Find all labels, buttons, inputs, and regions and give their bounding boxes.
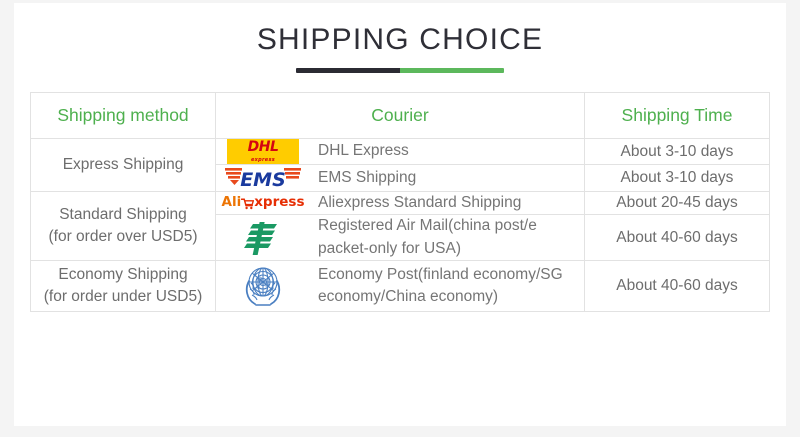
svg-text:EMS: EMS xyxy=(240,169,286,191)
method-cell-standard: Standard Shipping(for order over USD5) xyxy=(31,192,216,261)
ems-logo: EMS xyxy=(224,165,302,191)
method-cell-economy: Economy Shipping(for order under USD5) xyxy=(31,261,216,312)
courier-cell-china-post: Registered Air Mail(china post/e packet-… xyxy=(216,215,585,261)
dhl-logo: DHL express xyxy=(224,139,302,164)
time-cell: About 3-10 days xyxy=(585,139,770,165)
method-cell-express: Express Shipping xyxy=(31,139,216,192)
time-cell: About 20-45 days xyxy=(585,192,770,215)
table-row: Express Shipping DHL express DHL Express xyxy=(31,139,770,165)
shipping-table: Shipping method Courier Shipping Time Ex… xyxy=(30,92,770,312)
title-underline xyxy=(296,68,504,73)
table-row: Economy Shipping(for order under USD5) xyxy=(31,261,770,312)
column-header-shipping-time: Shipping Time xyxy=(585,93,770,139)
courier-cell-aliexpress: Ali xpress Ali xyxy=(216,192,585,215)
table-header: Shipping method Courier Shipping Time xyxy=(31,93,770,139)
shipping-choice-card: SHIPPING CHOICE Shipping method Courier … xyxy=(14,3,786,426)
title-underline-dark-half xyxy=(296,68,400,73)
aliexpress-logo: Ali xpress xyxy=(224,196,302,210)
column-header-courier: Courier xyxy=(216,93,585,139)
courier-cell-economy-post: Economy Post(finland economy/SG economy/… xyxy=(216,261,585,312)
time-cell: About 40-60 days xyxy=(585,261,770,312)
courier-cell-dhl: DHL express DHL Express xyxy=(216,139,585,165)
table-row: Standard Shipping(for order over USD5) A… xyxy=(31,192,770,215)
time-cell: About 3-10 days xyxy=(585,165,770,192)
courier-cell-ems: EMS EMS Shipping xyxy=(216,165,585,192)
courier-label: Registered Air Mail(china post/e packet-… xyxy=(318,215,576,260)
shipping-table-wrapper: Shipping method Courier Shipping Time Ex… xyxy=(30,92,770,312)
column-header-shipping-method: Shipping method xyxy=(31,93,216,139)
courier-label: Economy Post(finland economy/SG economy/… xyxy=(318,264,576,309)
page-title: SHIPPING CHOICE xyxy=(14,23,786,56)
courier-label: Aliexpress Standard Shipping xyxy=(318,192,521,214)
title-underline-green-half xyxy=(400,68,504,73)
united-nations-logo xyxy=(224,261,302,311)
table-body: Express Shipping DHL express DHL Express xyxy=(31,139,770,312)
courier-label: DHL Express xyxy=(318,140,409,162)
aliexpress-logo-suffix: xpress xyxy=(254,196,304,210)
dhl-logo-subtext: express xyxy=(227,157,299,163)
shopping-cart-icon xyxy=(241,197,254,210)
title-block: SHIPPING CHOICE xyxy=(14,3,786,73)
china-post-logo xyxy=(224,218,302,258)
time-cell: About 40-60 days xyxy=(585,215,770,261)
courier-label: EMS Shipping xyxy=(318,167,416,189)
table-header-row: Shipping method Courier Shipping Time xyxy=(31,93,770,139)
dhl-logo-word: DHL xyxy=(227,140,299,155)
aliexpress-logo-prefix: Ali xyxy=(222,196,242,210)
